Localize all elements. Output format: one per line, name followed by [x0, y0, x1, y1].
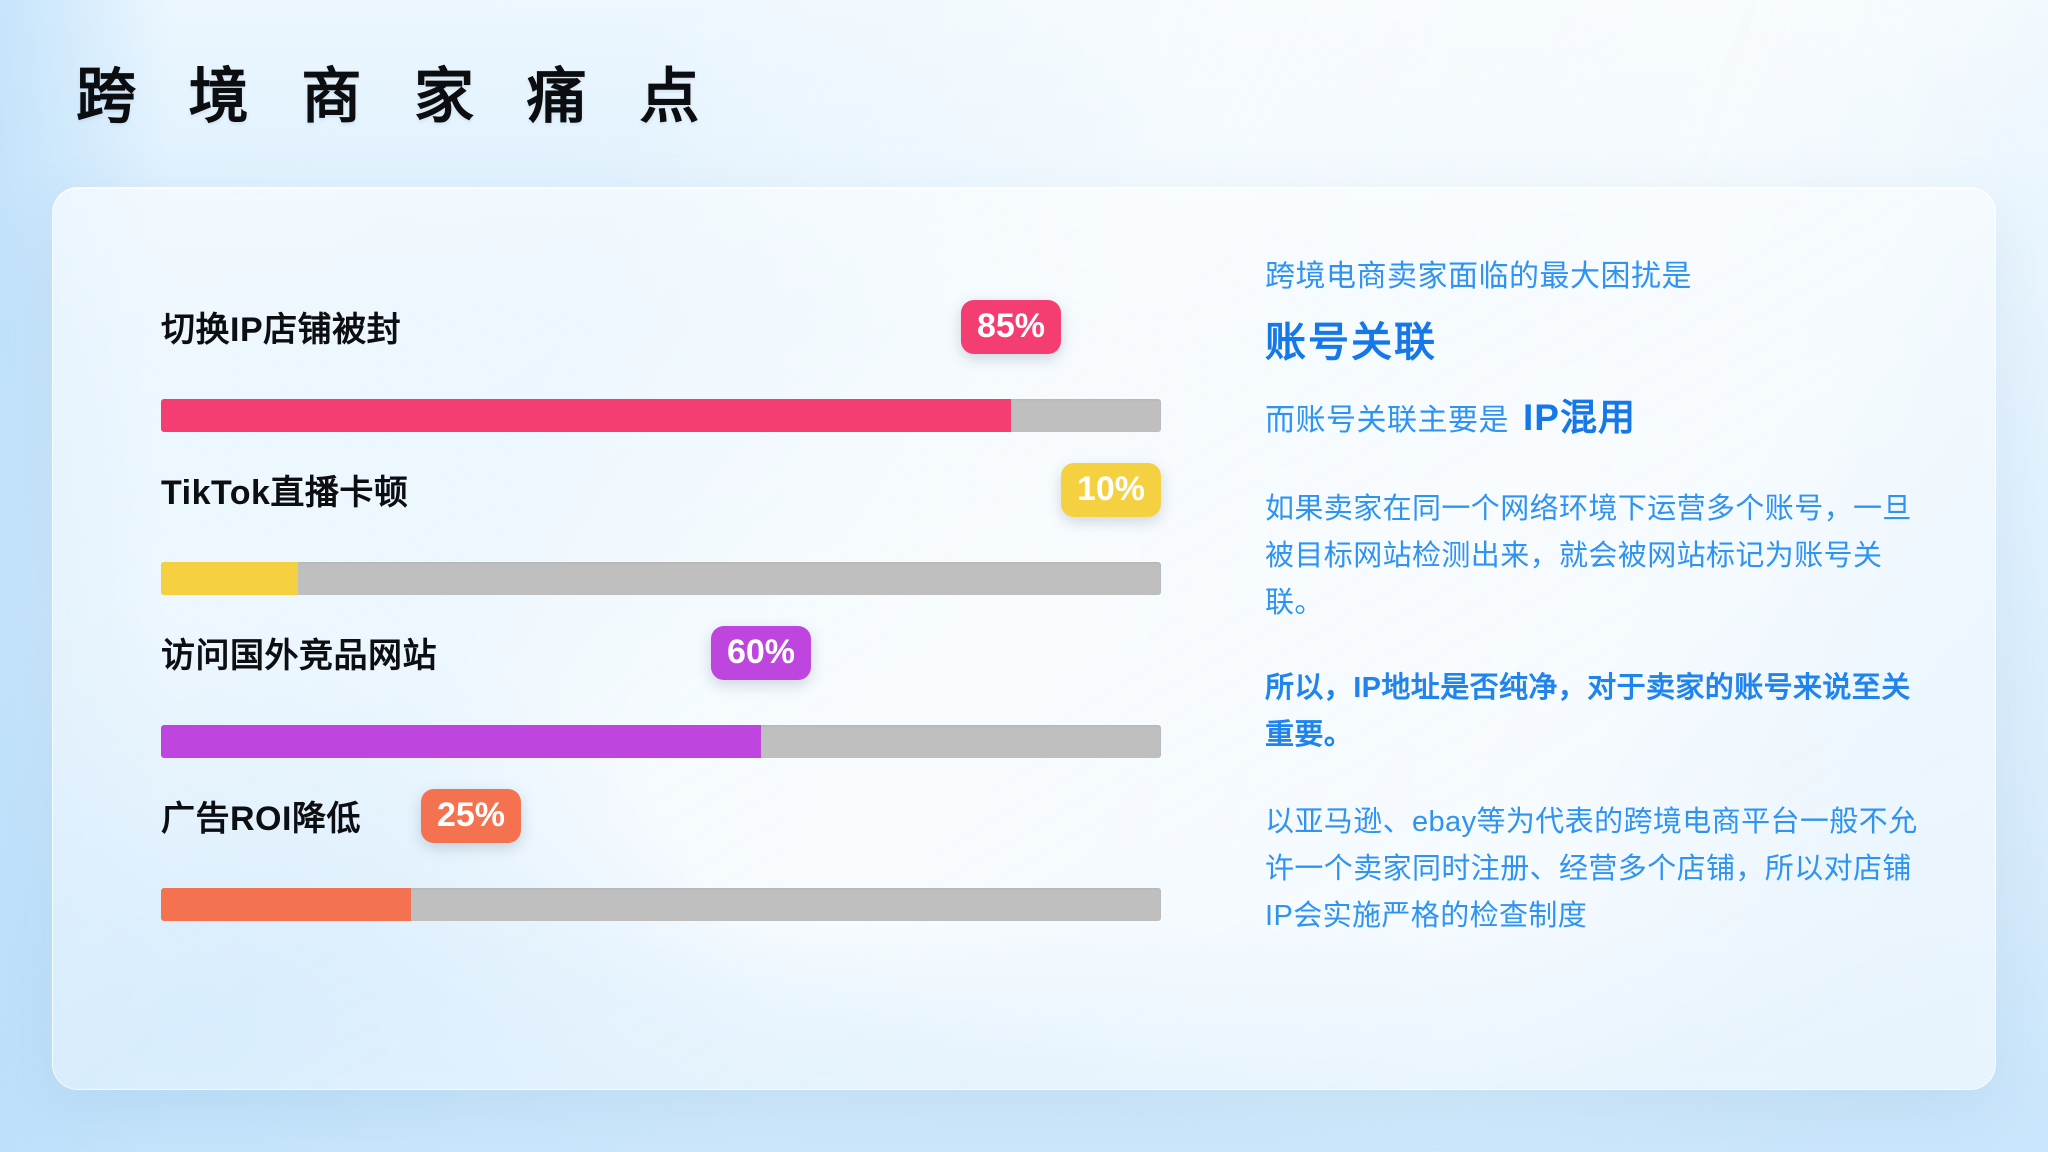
bar-head: 广告ROI降低	[161, 783, 1203, 855]
bar-fill	[161, 888, 411, 921]
bar-track	[161, 888, 1161, 921]
bar-row: 访问国外竞品网站60%	[161, 620, 1203, 783]
bar-label: 广告ROI降低	[161, 802, 361, 836]
info-subline-prefix: 而账号关联主要是	[1265, 404, 1509, 437]
info-heading: 账号关联	[1265, 317, 1933, 368]
bar-track	[161, 399, 1161, 432]
bar-row: 广告ROI降低25%	[161, 783, 1203, 946]
info-subline-emphasis: IP混用	[1523, 397, 1636, 438]
bar-fill	[161, 725, 761, 758]
bar-chart-rows: 切换IP店铺被封85%TikTok直播卡顿10%访问国外竞品网站60%广告ROI…	[161, 294, 1203, 946]
bar-value-badge: 85%	[961, 300, 1061, 354]
bar-track	[161, 725, 1161, 758]
info-lead-text: 跨境电商卖家面临的最大困扰是	[1265, 254, 1933, 299]
bar-value-badge: 60%	[711, 626, 811, 680]
info-pane: 跨境电商卖家面临的最大困扰是 账号关联 而账号关联主要是IP混用 如果卖家在同一…	[1203, 188, 1995, 1089]
page-title: 跨 境 商 家 痛 点	[76, 62, 717, 131]
bar-label: 访问国外竞品网站	[161, 639, 437, 673]
content-card: 切换IP店铺被封85%TikTok直播卡顿10%访问国外竞品网站60%广告ROI…	[52, 187, 1996, 1090]
pain-point-chart: 切换IP店铺被封85%TikTok直播卡顿10%访问国外竞品网站60%广告ROI…	[53, 188, 1203, 1089]
info-paragraph-2: 所以，IP地址是否纯净，对于卖家的账号来说至关重要。	[1265, 665, 1933, 759]
bar-label: TikTok直播卡顿	[161, 476, 408, 510]
bar-row: 切换IP店铺被封85%	[161, 294, 1203, 457]
bar-track	[161, 562, 1161, 595]
info-subline: 而账号关联主要是IP混用	[1265, 390, 1933, 446]
bar-head: TikTok直播卡顿	[161, 457, 1203, 529]
bar-fill	[161, 399, 1011, 432]
bar-row: TikTok直播卡顿10%	[161, 457, 1203, 620]
bar-value-badge: 10%	[1061, 463, 1161, 517]
bar-label: 切换IP店铺被封	[161, 313, 401, 347]
bar-fill	[161, 562, 298, 595]
info-paragraph-3: 以亚马逊、ebay等为代表的跨境电商平台一般不允许一个卖家同时注册、经营多个店铺…	[1265, 799, 1933, 940]
bar-head: 访问国外竞品网站	[161, 620, 1203, 692]
bar-value-badge: 25%	[421, 789, 521, 843]
info-paragraph-1: 如果卖家在同一个网络环境下运营多个账号，一旦被目标网站检测出来，就会被网站标记为…	[1265, 486, 1933, 627]
